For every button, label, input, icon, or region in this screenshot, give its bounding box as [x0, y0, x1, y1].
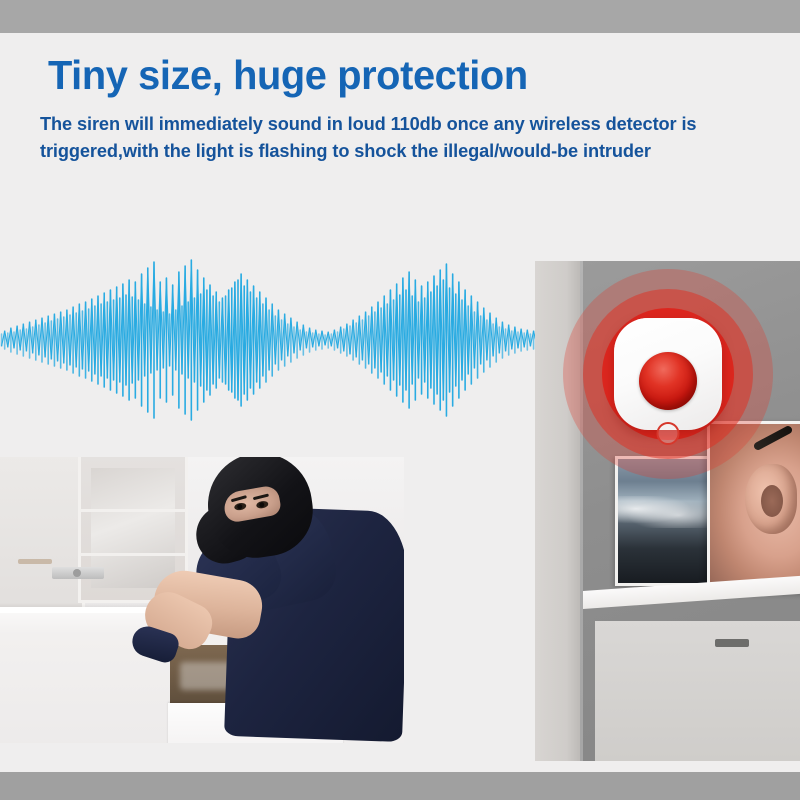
wireless-siren-device — [560, 266, 775, 481]
audio-waveform-graphic — [0, 255, 560, 425]
cabinet-handle — [18, 559, 52, 564]
siren-photo — [535, 261, 800, 761]
top-border-band — [0, 0, 800, 33]
sideboard-drawer-handle — [715, 639, 749, 647]
burglar-brow — [253, 493, 269, 500]
bottom-border-band — [0, 772, 800, 800]
burglar-eye — [256, 500, 269, 509]
content-canvas: Tiny size, huge protection The siren wil… — [0, 33, 800, 772]
burglar-photo — [0, 457, 404, 743]
siren-housing — [614, 318, 722, 430]
page-title: Tiny size, huge protection — [48, 52, 528, 99]
siren-led-dome — [639, 352, 697, 410]
drawer-lock-plate — [52, 567, 104, 579]
description-text: The siren will immediately sound in loud… — [40, 111, 788, 164]
sideboard-body — [595, 621, 800, 761]
product-marketing-image: Tiny size, huge protection The siren wil… — [0, 0, 800, 800]
burglar-figure — [150, 457, 404, 743]
burglar-brow — [231, 495, 247, 502]
waveform-svg — [0, 255, 560, 425]
cabinet-left-door — [0, 457, 85, 611]
burglar-eye — [234, 502, 247, 511]
siren-indicator-button[interactable] — [656, 422, 679, 445]
